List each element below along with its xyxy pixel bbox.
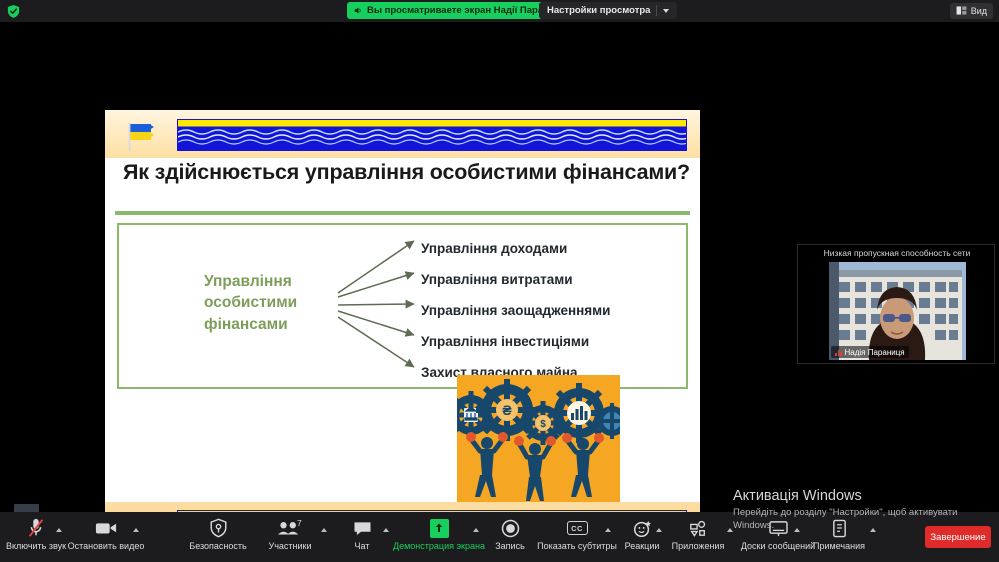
end-meeting-button[interactable]: Завершение bbox=[925, 526, 991, 548]
notes-options-caret[interactable] bbox=[868, 525, 878, 535]
view-settings-button[interactable]: Настройки просмотра bbox=[539, 2, 677, 19]
layout-icon bbox=[956, 6, 967, 17]
chevron-down-icon[interactable] bbox=[663, 9, 669, 13]
diagram-arrows bbox=[334, 231, 424, 388]
presentation-slide: Як здійснюється управління особистими фі… bbox=[105, 110, 700, 554]
chat-options-caret[interactable] bbox=[381, 525, 391, 535]
notes-button[interactable]: Примечания bbox=[808, 516, 870, 560]
title-divider bbox=[115, 211, 690, 215]
participants-label: Участники bbox=[269, 541, 312, 551]
security-label: Безопасность bbox=[189, 541, 246, 551]
mute-button-label: Включить звук bbox=[6, 541, 66, 551]
list-item: Управління інвестиціями bbox=[421, 326, 686, 357]
gears-teamwork-illustration: ₴ $ bbox=[457, 375, 620, 502]
captions-label: Показать субтитры bbox=[537, 541, 617, 551]
reactions-icon bbox=[633, 516, 652, 540]
record-icon bbox=[501, 516, 520, 540]
security-button[interactable]: Безопасность bbox=[185, 516, 251, 560]
list-item: Управління доходами bbox=[421, 233, 686, 264]
svg-text:₴: ₴ bbox=[502, 402, 512, 418]
apps-icon bbox=[688, 516, 708, 540]
participants-icon: 7 bbox=[277, 516, 303, 540]
list-item: Управління заощадженнями bbox=[421, 295, 686, 326]
divider bbox=[656, 5, 657, 16]
mic-active-icon bbox=[835, 349, 842, 356]
stop-video-button[interactable]: Остановить видео bbox=[66, 516, 146, 560]
whiteboard-label: Доски сообщений bbox=[741, 541, 815, 551]
top-bar: Вы просматриваете экран Надії Параниця Н… bbox=[0, 0, 999, 22]
share-screen-label: Демонстрация экрана bbox=[393, 541, 485, 551]
chat-bubble-icon bbox=[353, 516, 372, 540]
mute-options-caret[interactable] bbox=[54, 525, 64, 535]
list-item: Управління витратами bbox=[421, 264, 686, 295]
participants-count: 7 bbox=[297, 518, 302, 528]
participant-video-feed: Надія Параниця bbox=[829, 262, 966, 360]
share-screen-button[interactable]: Демонстрация экрана bbox=[396, 516, 482, 560]
reactions-label: Реакции bbox=[625, 541, 660, 551]
whiteboard-icon bbox=[768, 516, 789, 540]
microphone-muted-icon bbox=[26, 516, 46, 540]
slide-top-wave-banner bbox=[177, 119, 687, 151]
chat-button[interactable]: Чат bbox=[343, 516, 381, 560]
shared-screen-area[interactable]: Як здійснюється управління особистими фі… bbox=[5, 55, 795, 498]
record-button[interactable]: Запись bbox=[488, 516, 532, 560]
whiteboard-options-caret[interactable] bbox=[792, 525, 802, 535]
svg-text:$: $ bbox=[540, 419, 546, 430]
bandwidth-warning-label: Низкая пропускная способность сети bbox=[798, 248, 996, 258]
apps-options-caret[interactable] bbox=[725, 525, 735, 535]
zoom-meeting-window: Вы просматриваете экран Надії Параниця Н… bbox=[0, 0, 999, 562]
mute-button[interactable]: Включить звук bbox=[6, 516, 66, 560]
participant-name: Надія Параниця bbox=[845, 348, 905, 357]
closed-caption-icon: CC bbox=[567, 516, 588, 540]
apps-label: Приложения bbox=[672, 541, 725, 551]
video-camera-icon bbox=[95, 516, 117, 540]
meeting-stage: Як здійснюється управління особистими фі… bbox=[0, 22, 999, 512]
speaker-icon bbox=[354, 6, 363, 15]
diagram-items-list: Управління доходами Управління витратами… bbox=[421, 233, 686, 388]
participants-button[interactable]: 7 Участники bbox=[259, 516, 321, 560]
screen-share-notice-text: Вы просматриваете экран Надії Параниця bbox=[367, 5, 566, 16]
slide-diagram: Управління особистими фінансами bbox=[117, 223, 688, 389]
reactions-button[interactable]: Реакции bbox=[620, 516, 664, 560]
shield-icon bbox=[209, 516, 228, 540]
video-options-caret[interactable] bbox=[131, 525, 141, 535]
meeting-toolbar: Включить звук Остановить видео bbox=[0, 512, 999, 562]
record-label: Запись bbox=[495, 541, 525, 551]
chat-label: Чат bbox=[355, 541, 370, 551]
diagram-center-label: Управління особистими фінансами bbox=[204, 271, 339, 335]
captions-options-caret[interactable] bbox=[603, 525, 613, 535]
end-meeting-label: Завершение bbox=[930, 532, 985, 543]
captions-button[interactable]: CC Показать субтитры bbox=[538, 516, 616, 560]
participant-name-badge: Надія Параниця bbox=[831, 346, 909, 358]
participant-video-tile[interactable]: Низкая пропускная способность сети bbox=[797, 244, 995, 364]
shield-check-icon[interactable] bbox=[6, 4, 21, 19]
notes-icon bbox=[831, 516, 848, 540]
notes-label: Примечания bbox=[813, 541, 865, 551]
slide-title: Як здійснюється управління особистими фі… bbox=[123, 160, 688, 185]
stop-video-label: Остановить видео bbox=[68, 541, 145, 551]
reactions-options-caret[interactable] bbox=[654, 525, 664, 535]
view-button-label: Вид bbox=[971, 6, 987, 16]
share-options-caret[interactable] bbox=[471, 525, 481, 535]
view-settings-label: Настройки просмотра bbox=[547, 5, 650, 16]
share-screen-icon bbox=[430, 516, 449, 540]
participants-options-caret[interactable] bbox=[319, 525, 329, 535]
apps-button[interactable]: Приложения bbox=[668, 516, 728, 560]
ukraine-flag-icon bbox=[123, 118, 159, 154]
view-layout-button[interactable]: Вид bbox=[950, 3, 993, 19]
